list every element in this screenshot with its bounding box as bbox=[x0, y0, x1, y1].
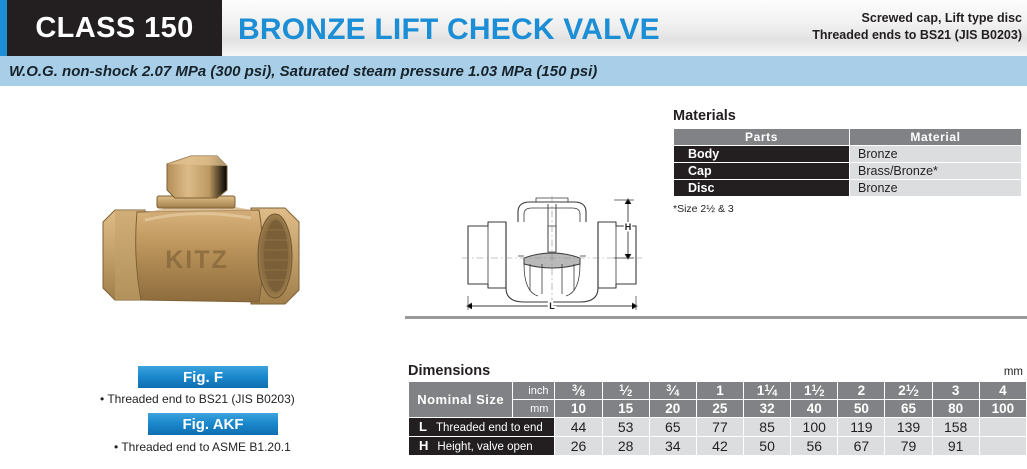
header-accent-stripe bbox=[0, 0, 7, 56]
pressure-class-block: CLASS 150 bbox=[7, 0, 222, 56]
fig-f-badge: Fig. F bbox=[138, 366, 268, 388]
dimension-row-label-h: HHeight, valve open bbox=[409, 437, 555, 456]
dimensions-section-title: Dimensions bbox=[408, 363, 490, 379]
l-value-4: 85 bbox=[744, 418, 791, 437]
h-value-3: 42 bbox=[696, 437, 743, 456]
materials-section-title: Materials bbox=[673, 108, 736, 124]
pressure-rating-band: W.O.G. non-shock 2.07 MPa (300 psi), Sat… bbox=[0, 56, 1027, 86]
header-note-line-2: Threaded ends to BS21 (JIS B0203) bbox=[812, 27, 1022, 44]
l-value-9 bbox=[979, 418, 1026, 437]
h-value-1: 28 bbox=[602, 437, 649, 456]
unit-label-inch: inch bbox=[513, 382, 555, 400]
row-letter-h: H bbox=[419, 438, 428, 453]
size-mm-0: 10 bbox=[555, 400, 602, 418]
nominal-size-label: Nominal Size bbox=[409, 382, 513, 418]
pressure-rating-text: W.O.G. non-shock 2.07 MPa (300 psi), Sat… bbox=[0, 63, 597, 80]
material-part-cap: Cap bbox=[674, 163, 850, 180]
size-mm-7: 65 bbox=[885, 400, 932, 418]
material-value-body: Bronze bbox=[850, 146, 1022, 163]
size-inch-8: 3 bbox=[932, 382, 979, 400]
l-value-1: 53 bbox=[602, 418, 649, 437]
cross-section-svg: H L bbox=[462, 196, 642, 314]
size-inch-6: 2 bbox=[838, 382, 885, 400]
size-mm-3: 25 bbox=[696, 400, 743, 418]
material-value-disc: Bronze bbox=[850, 180, 1022, 197]
size-inch-2: 3⁄4 bbox=[649, 382, 696, 400]
l-value-6: 119 bbox=[838, 418, 885, 437]
l-value-5: 100 bbox=[791, 418, 838, 437]
h-value-5: 56 bbox=[791, 437, 838, 456]
row-desc-l: Threaded end to end bbox=[436, 422, 543, 434]
valve-photo-illustration: KITZ bbox=[75, 150, 340, 355]
h-value-6: 67 bbox=[838, 437, 885, 456]
materials-header-row: Parts Material bbox=[674, 129, 1022, 146]
datasheet-page: CLASS 150 BRONZE LIFT CHECK VALVE Screwe… bbox=[0, 0, 1027, 469]
size-inch-0: 3⁄8 bbox=[555, 382, 602, 400]
dimension-row-label-l: LThreaded end to end bbox=[409, 418, 555, 437]
h-value-7: 79 bbox=[885, 437, 932, 456]
page-header: CLASS 150 BRONZE LIFT CHECK VALVE Screwe… bbox=[0, 0, 1027, 56]
dimensions-header-row-inch: Nominal Size inch 3⁄8 1⁄2 3⁄4 1 11⁄4 11⁄… bbox=[409, 382, 1027, 400]
l-value-7: 139 bbox=[885, 418, 932, 437]
l-value-3: 77 bbox=[696, 418, 743, 437]
size-mm-1: 15 bbox=[602, 400, 649, 418]
material-value-cap: Brass/Bronze* bbox=[850, 163, 1022, 180]
size-inch-9: 4 bbox=[979, 382, 1026, 400]
size-inch-7: 21⁄2 bbox=[885, 382, 932, 400]
l-value-8: 158 bbox=[932, 418, 979, 437]
h-value-8: 91 bbox=[932, 437, 979, 456]
size-inch-4: 11⁄4 bbox=[744, 382, 791, 400]
size-inch-5: 11⁄2 bbox=[791, 382, 838, 400]
size-mm-6: 50 bbox=[838, 400, 885, 418]
pressure-class-label: CLASS 150 bbox=[35, 12, 193, 45]
h-value-2: 34 bbox=[649, 437, 696, 456]
brand-mark-kitz: KITZ bbox=[165, 246, 229, 274]
size-mm-2: 20 bbox=[649, 400, 696, 418]
table-row: Body Bronze bbox=[674, 146, 1022, 163]
h-value-4: 50 bbox=[744, 437, 791, 456]
h-value-9 bbox=[979, 437, 1026, 456]
size-mm-8: 80 bbox=[932, 400, 979, 418]
table-row: Cap Brass/Bronze* bbox=[674, 163, 1022, 180]
size-mm-9: 100 bbox=[979, 400, 1026, 418]
l-value-0: 44 bbox=[555, 418, 602, 437]
valve-cross-section-drawing: H L bbox=[462, 196, 642, 314]
dimensions-unit-label: mm bbox=[1004, 366, 1023, 378]
product-title: BRONZE LIFT CHECK VALVE bbox=[238, 13, 660, 47]
table-row: HHeight, valve open 26 28 34 42 50 56 67… bbox=[409, 437, 1027, 456]
size-inch-1: 1⁄2 bbox=[602, 382, 649, 400]
dimensions-table: Nominal Size inch 3⁄8 1⁄2 3⁄4 1 11⁄4 11⁄… bbox=[408, 381, 1027, 456]
materials-table: Parts Material Body Bronze Cap Brass/Bro… bbox=[673, 128, 1022, 197]
dimension-label-l: L bbox=[549, 301, 555, 311]
table-row: LThreaded end to end 44 53 65 77 85 100 … bbox=[409, 418, 1027, 437]
material-part-disc: Disc bbox=[674, 180, 850, 197]
header-spec-note: Screwed cap, Lift type disc Threaded end… bbox=[812, 10, 1022, 43]
fig-f-note: • Threaded end to BS21 (JIS B0203) bbox=[100, 392, 295, 406]
size-mm-4: 32 bbox=[744, 400, 791, 418]
fig-akf-badge: Fig. AKF bbox=[148, 413, 278, 435]
unit-label-mm: mm bbox=[513, 400, 555, 418]
fig-akf-note: • Threaded end to ASME B1.20.1 bbox=[114, 440, 291, 454]
row-desc-h: Height, valve open bbox=[437, 441, 532, 453]
section-divider bbox=[405, 316, 1027, 319]
l-value-2: 65 bbox=[649, 418, 696, 437]
size-mm-5: 40 bbox=[791, 400, 838, 418]
materials-footnote: *Size 2½ & 3 bbox=[673, 203, 734, 215]
materials-col-material: Material bbox=[850, 129, 1022, 146]
row-letter-l: L bbox=[419, 419, 427, 434]
header-note-line-1: Screwed cap, Lift type disc bbox=[812, 10, 1022, 27]
size-inch-3: 1 bbox=[696, 382, 743, 400]
product-photo: KITZ bbox=[75, 150, 340, 355]
h-value-0: 26 bbox=[555, 437, 602, 456]
material-part-body: Body bbox=[674, 146, 850, 163]
dimension-label-h: H bbox=[625, 222, 632, 232]
materials-col-parts: Parts bbox=[674, 129, 850, 146]
table-row: Disc Bronze bbox=[674, 180, 1022, 197]
